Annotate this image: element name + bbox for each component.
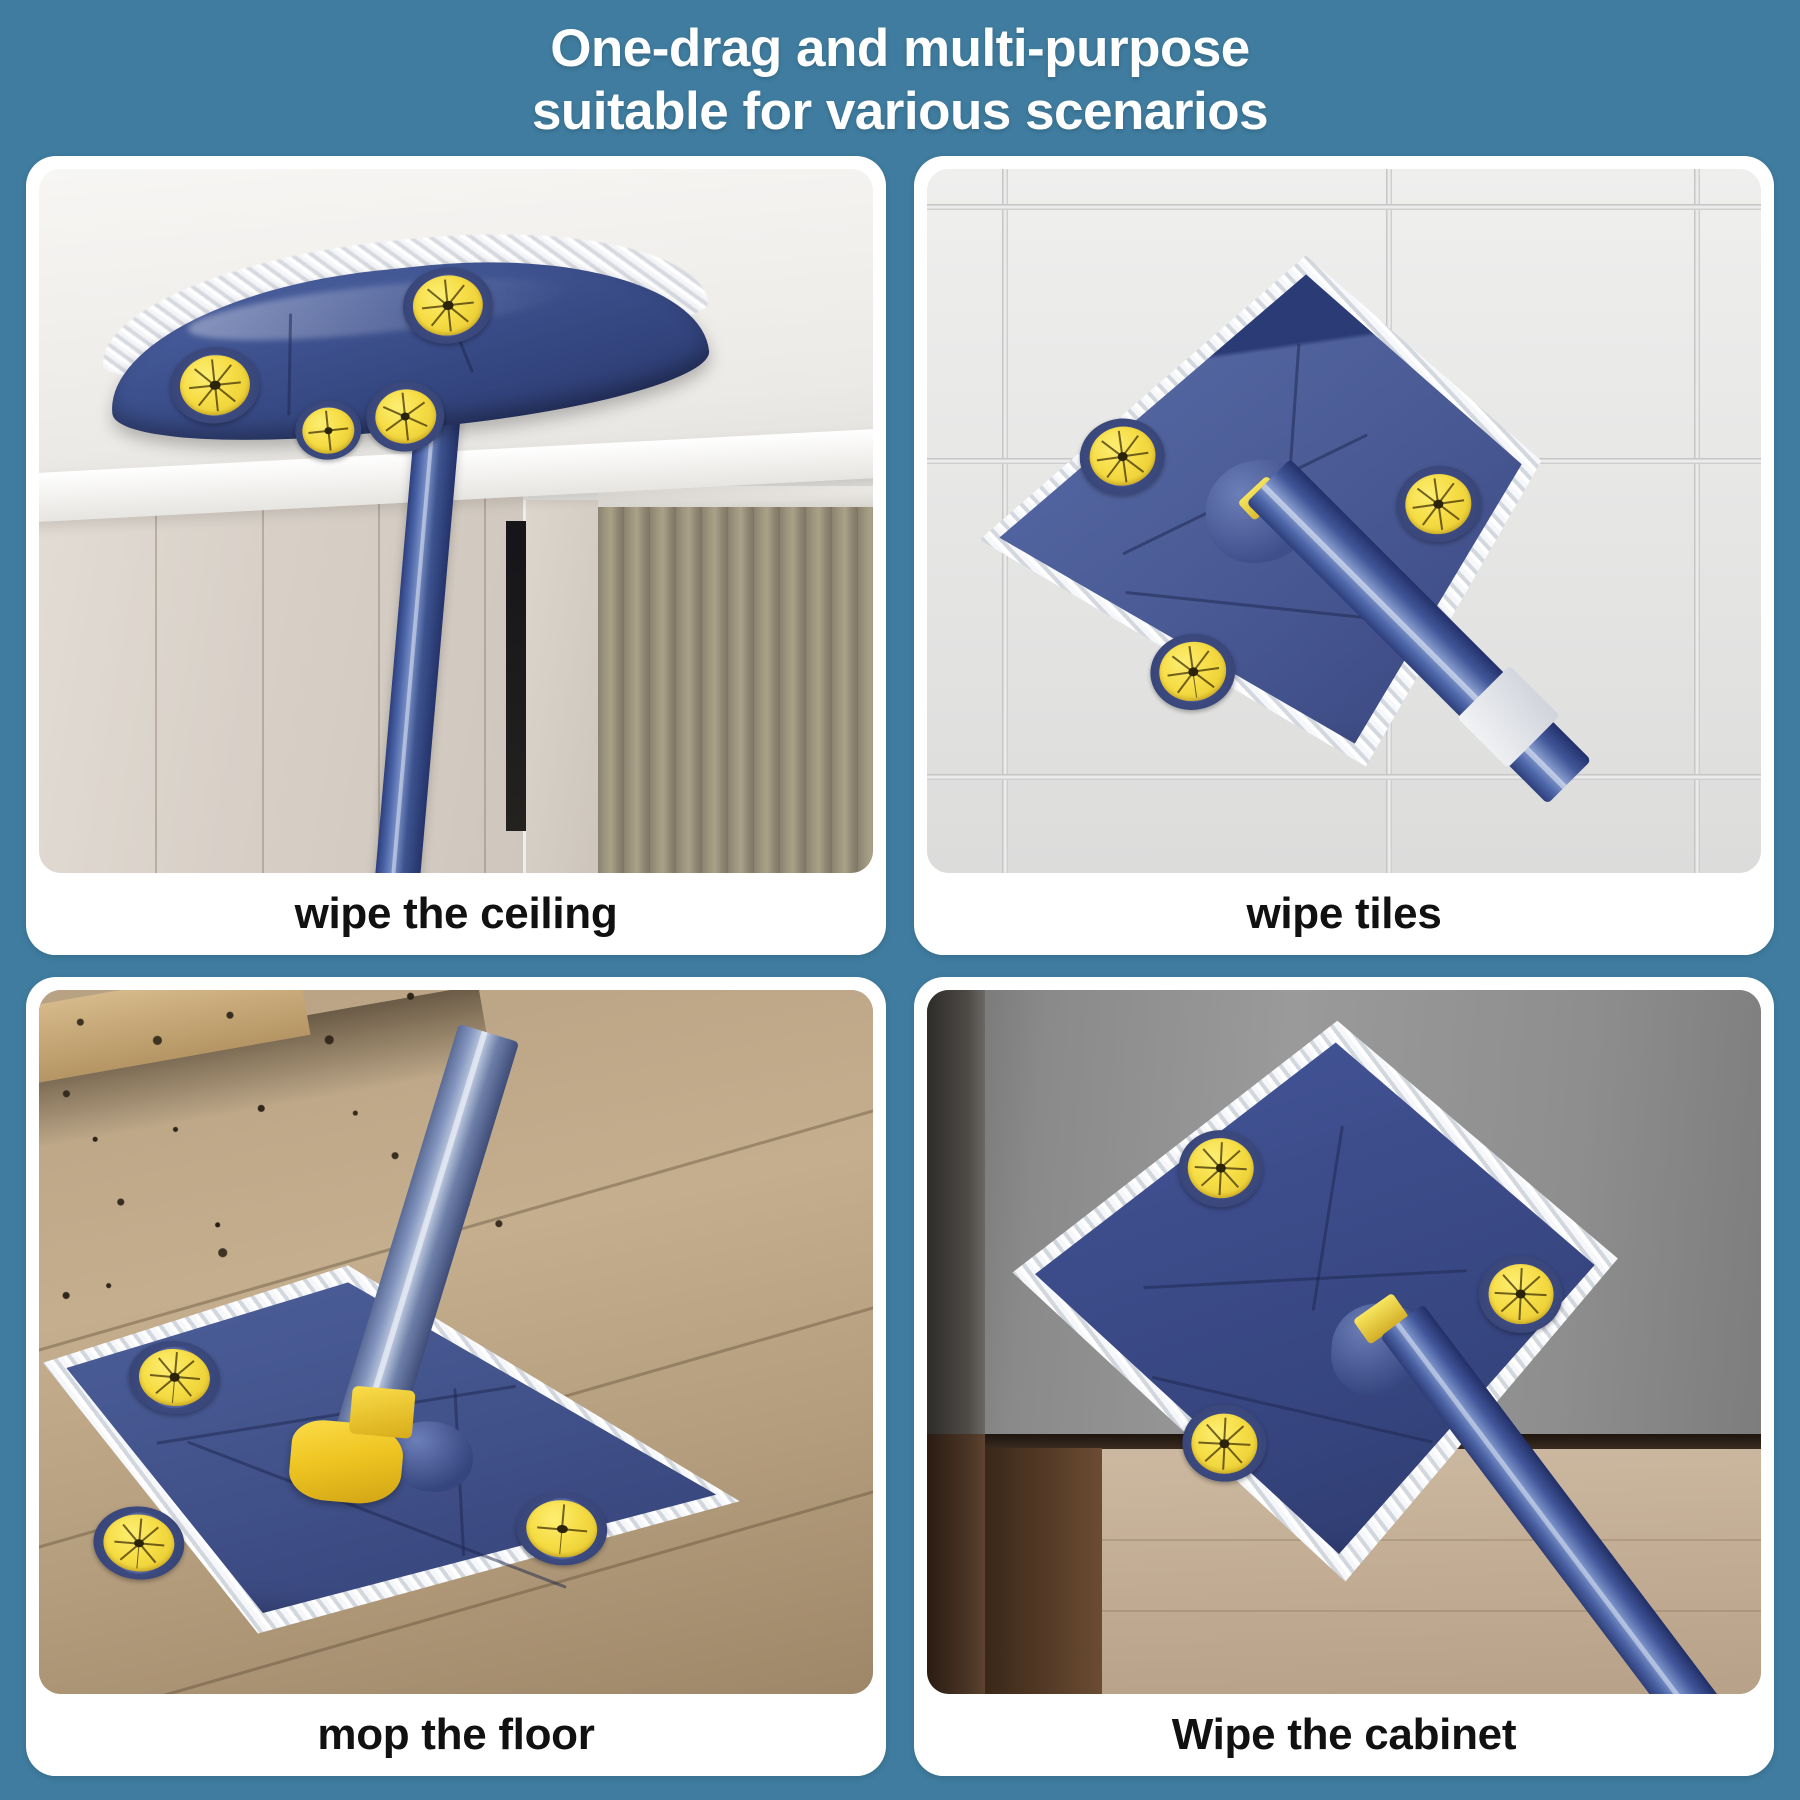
clip-disc — [1487, 1263, 1556, 1326]
pivot-button-yellow — [349, 1385, 416, 1438]
clip-disc — [1191, 1412, 1260, 1475]
scenario-card-wipe-the-ceiling[interactable]: wipe the ceiling — [26, 156, 886, 955]
scenario-card-wipe-tiles[interactable]: wipe tiles — [914, 156, 1774, 955]
tile-grout-horizontal — [927, 204, 1761, 210]
page-title: One-drag and multi-purpose suitable for … — [0, 0, 1800, 143]
tile-grout-vertical — [1694, 169, 1700, 873]
card-caption-wipe-the-ceiling: wipe the ceiling — [39, 873, 873, 955]
mop-head-floor — [39, 1242, 754, 1668]
card-caption-wipe-the-cabinet: Wipe the cabinet — [927, 1694, 1761, 1776]
wardrobe-gap — [506, 521, 526, 831]
card-caption-wipe-tiles: wipe tiles — [927, 873, 1761, 955]
poster-root: One-drag and multi-purpose suitable for … — [0, 0, 1800, 1800]
mop-head-cabinet — [996, 1010, 1624, 1590]
clip-disc — [410, 272, 486, 339]
scene-photo-cabinet — [927, 990, 1761, 1694]
scene-photo-tiles — [927, 169, 1761, 873]
page-title-line-1: One-drag and multi-purpose — [0, 18, 1800, 81]
scene-photo-ceiling — [39, 169, 873, 873]
curtains — [598, 493, 873, 873]
card-caption-mop-the-floor: mop the floor — [39, 1694, 873, 1776]
wardrobe-panels — [39, 486, 523, 873]
clip-disc — [372, 387, 438, 447]
clip-disc — [1402, 470, 1476, 538]
page-title-line-2: suitable for various scenarios — [0, 81, 1800, 144]
wardrobe-panel-right — [526, 500, 601, 873]
cabinet-brown-edge — [927, 1434, 985, 1694]
clip-disc — [101, 1511, 177, 1574]
clip-disc — [524, 1497, 600, 1560]
clip-disc — [1156, 637, 1230, 705]
clip-disc — [300, 405, 356, 456]
clip-disc — [177, 352, 253, 419]
scenario-card-wipe-the-cabinet[interactable]: Wipe the cabinet — [914, 977, 1774, 1776]
scenario-card-grid: wipe the ceiling — [26, 156, 1774, 1776]
scene-photo-floor — [39, 990, 873, 1694]
clip-disc — [137, 1345, 213, 1408]
mop-head-tiles — [945, 231, 1577, 812]
scenario-card-mop-the-floor[interactable]: mop the floor — [26, 977, 886, 1776]
clip-disc — [1187, 1137, 1256, 1200]
wall-dark-edge — [927, 990, 985, 1434]
clip-disc — [1086, 422, 1160, 490]
